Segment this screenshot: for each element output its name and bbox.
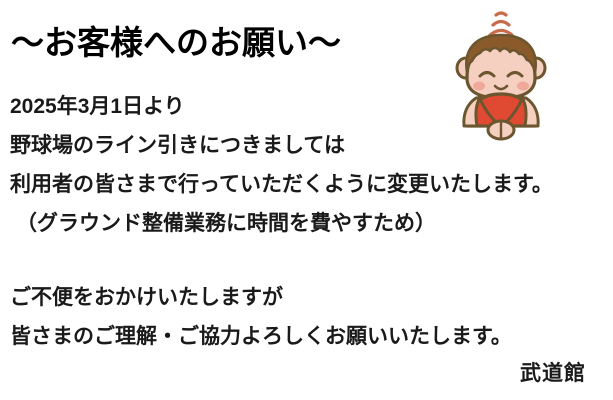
notice-body-paragraph-2: ご不便をおかけいたしますが 皆さまのご理解・ご協力よろしくお願いいたします。 xyxy=(10,278,530,356)
notice-line-reason: （グラウンド整備業務に時間を費やすため） xyxy=(10,204,440,243)
signature-issuer: 武道館 xyxy=(520,357,586,387)
notice-line-apology: ご不便をおかけいたしますが xyxy=(10,278,530,317)
notice-line-change: 利用者の皆さまで行っていただくように変更いたします。 xyxy=(10,165,440,204)
notice-line-subject: 野球場のライン引きにつきましては xyxy=(10,126,440,165)
bowing-person-icon xyxy=(443,2,563,147)
page-title: 〜お客様へのお願い〜 xyxy=(11,26,341,59)
bowing-person-illustration xyxy=(443,2,563,147)
notice-line-effective-date: 2025年3月1日より xyxy=(10,87,440,126)
notice-line-request: 皆さまのご理解・ご協力よろしくお願いいたします。 xyxy=(10,317,530,356)
notice-page: 〜お客様へのお願い〜 2025年3月1日より 野球場のライン引きにつきましては … xyxy=(0,0,613,400)
notice-body-paragraph-1: 2025年3月1日より 野球場のライン引きにつきましては 利用者の皆さまで行って… xyxy=(10,87,440,243)
